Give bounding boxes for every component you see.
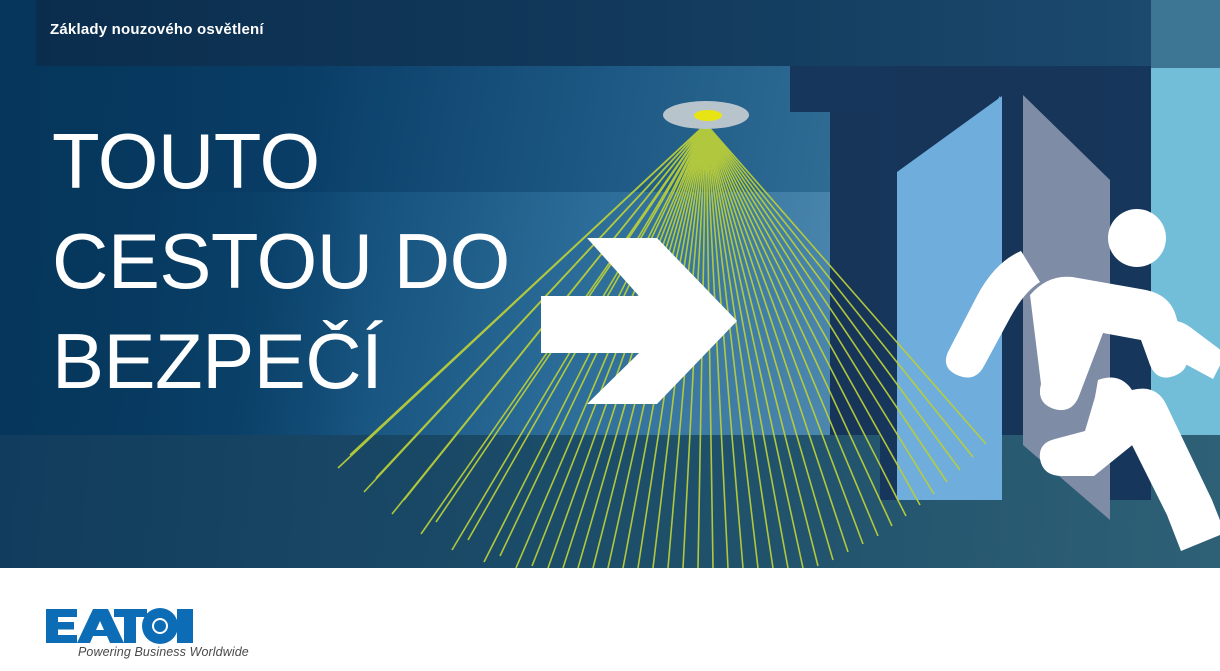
running-person-exit-icon bbox=[880, 80, 1220, 568]
slide-header-title: Základy nouzového osvětlení bbox=[50, 21, 264, 38]
presentation-slide: Základy nouzového osvětlení TOUTO CESTOU… bbox=[0, 0, 1220, 671]
page-title-line-2: CESTOU DO bbox=[52, 212, 612, 312]
page-title-line-3: BEZPEČÍ bbox=[52, 312, 612, 412]
eaton-logo-icon bbox=[44, 606, 194, 646]
page-title-line-1: TOUTO bbox=[52, 112, 612, 212]
page-title: TOUTO CESTOU DO BEZPEČÍ bbox=[52, 112, 612, 411]
footer-logo-area: Powering Business Worldwide bbox=[0, 568, 1220, 671]
lamp-glow-icon bbox=[694, 110, 722, 121]
logo-tagline: Powering Business Worldwide bbox=[78, 645, 249, 659]
hero-illustration: Základy nouzového osvětlení TOUTO CESTOU… bbox=[0, 0, 1220, 568]
